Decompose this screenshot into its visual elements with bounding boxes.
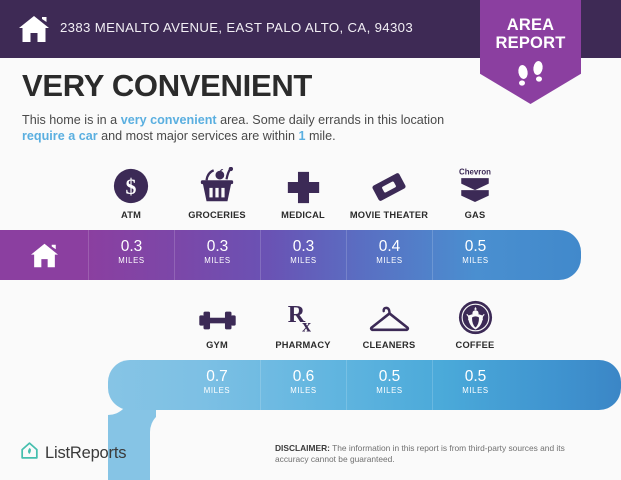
category-gym: GYM <box>174 295 260 350</box>
movie-ticket-icon <box>346 165 432 205</box>
intro-part-3: and most major services are within <box>98 129 299 143</box>
distance-cell-atm: 0.3 MILES <box>88 230 174 280</box>
category-gas: Chevron GAS <box>432 165 518 220</box>
distance-value: 0.7 <box>174 369 260 385</box>
intro-part-4: mile. <box>306 129 336 143</box>
category-label: CLEANERS <box>346 340 432 350</box>
category-groceries: GROCERIES <box>174 165 260 220</box>
category-atm: $ ATM <box>88 165 174 220</box>
home-icon <box>18 14 50 44</box>
rx-prescription-icon: R x <box>260 295 346 335</box>
category-medical: MEDICAL <box>260 165 346 220</box>
distance-cell-gas: 0.5 MILES <box>432 230 518 280</box>
intro-part-1: This home is in a <box>22 113 121 127</box>
distance-value: 0.3 <box>89 239 174 255</box>
starbucks-logo-icon <box>432 295 518 335</box>
distance-bar-row-two: 0.7 MILES 0.6 MILES 0.5 MILES 0.5 MILES <box>108 360 621 410</box>
distance-cell-gym: 0.7 MILES <box>174 360 260 410</box>
intro-part-2: area. Some daily errands in this locatio… <box>217 113 445 127</box>
distance-unit: MILES <box>261 386 346 395</box>
distance-unit: MILES <box>347 386 432 395</box>
distance-value: 0.3 <box>261 239 346 255</box>
dumbbell-icon <box>174 295 260 335</box>
disclaimer-label: DISCLAIMER: <box>275 443 330 453</box>
distance-cell-pharmacy: 0.6 MILES <box>260 360 346 410</box>
page-title: VERY CONVENIENT <box>22 68 312 104</box>
distance-cell-movie-theater: 0.4 MILES <box>346 230 432 280</box>
distance-value: 0.5 <box>433 239 518 255</box>
intro-highlight-1: very convenient <box>121 113 217 127</box>
listreports-house-icon <box>20 441 39 465</box>
svg-text:Chevron: Chevron <box>459 168 491 177</box>
category-label: COFFEE <box>432 340 518 350</box>
area-report-badge: AREA REPORT <box>480 0 581 104</box>
category-movie-theater: MOVIE THEATER <box>346 165 432 220</box>
distance-cell-groceries: 0.3 MILES <box>174 230 260 280</box>
distance-unit: MILES <box>174 386 260 395</box>
distance-cell-coffee: 0.5 MILES <box>432 360 518 410</box>
distance-unit: MILES <box>433 256 518 265</box>
distance-bar-row-one: 0.3 MILES 0.3 MILES 0.3 MILES 0.4 MILES … <box>0 230 581 280</box>
badge-title: AREA REPORT <box>480 16 581 52</box>
area-report-page: 2383 MENALTO AVENUE, EAST PALO ALTO, CA,… <box>0 0 621 480</box>
category-coffee: COFFEE <box>432 295 518 350</box>
category-cleaners: CLEANERS <box>346 295 432 350</box>
distance-unit: MILES <box>261 256 346 265</box>
distance-cell-cleaners: 0.5 MILES <box>346 360 432 410</box>
dollar-circle-icon: $ <box>88 165 174 205</box>
distance-unit: MILES <box>175 256 260 265</box>
listreports-logo[interactable]: ListReports <box>20 441 126 465</box>
listreports-logo-text: ListReports <box>45 444 126 463</box>
distance-unit: MILES <box>347 256 432 265</box>
category-label: MEDICAL <box>260 210 346 220</box>
distance-value: 0.6 <box>261 369 346 385</box>
distance-value: 0.3 <box>175 239 260 255</box>
footprints-icon <box>514 58 548 88</box>
disclaimer: DISCLAIMER: The information in this repo… <box>275 443 593 466</box>
category-pharmacy: R x PHARMACY <box>260 295 346 350</box>
grocery-basket-icon <box>174 165 260 205</box>
distance-cell-medical: 0.3 MILES <box>260 230 346 280</box>
category-label: MOVIE THEATER <box>346 210 432 220</box>
category-label: GYM <box>174 340 260 350</box>
category-label: PHARMACY <box>260 340 346 350</box>
property-address: 2383 MENALTO AVENUE, EAST PALO ALTO, CA,… <box>60 20 413 35</box>
intro-highlight-2: require a car <box>22 129 98 143</box>
intro-highlight-3: 1 <box>298 129 305 143</box>
distance-value: 0.4 <box>347 239 432 255</box>
svg-text:$: $ <box>126 175 137 199</box>
svg-text:x: x <box>302 316 311 335</box>
distance-unit: MILES <box>433 386 518 395</box>
distance-value: 0.5 <box>433 369 518 385</box>
clothes-hanger-icon <box>346 295 432 335</box>
category-label: GAS <box>432 210 518 220</box>
distance-value: 0.5 <box>347 369 432 385</box>
distance-unit: MILES <box>89 256 174 265</box>
category-label: GROCERIES <box>174 210 260 220</box>
home-icon <box>0 230 88 280</box>
medical-cross-icon <box>260 165 346 205</box>
category-label: ATM <box>88 210 174 220</box>
intro-paragraph: This home is in a very convenient area. … <box>22 112 452 144</box>
chevron-logo-icon: Chevron <box>432 165 518 205</box>
